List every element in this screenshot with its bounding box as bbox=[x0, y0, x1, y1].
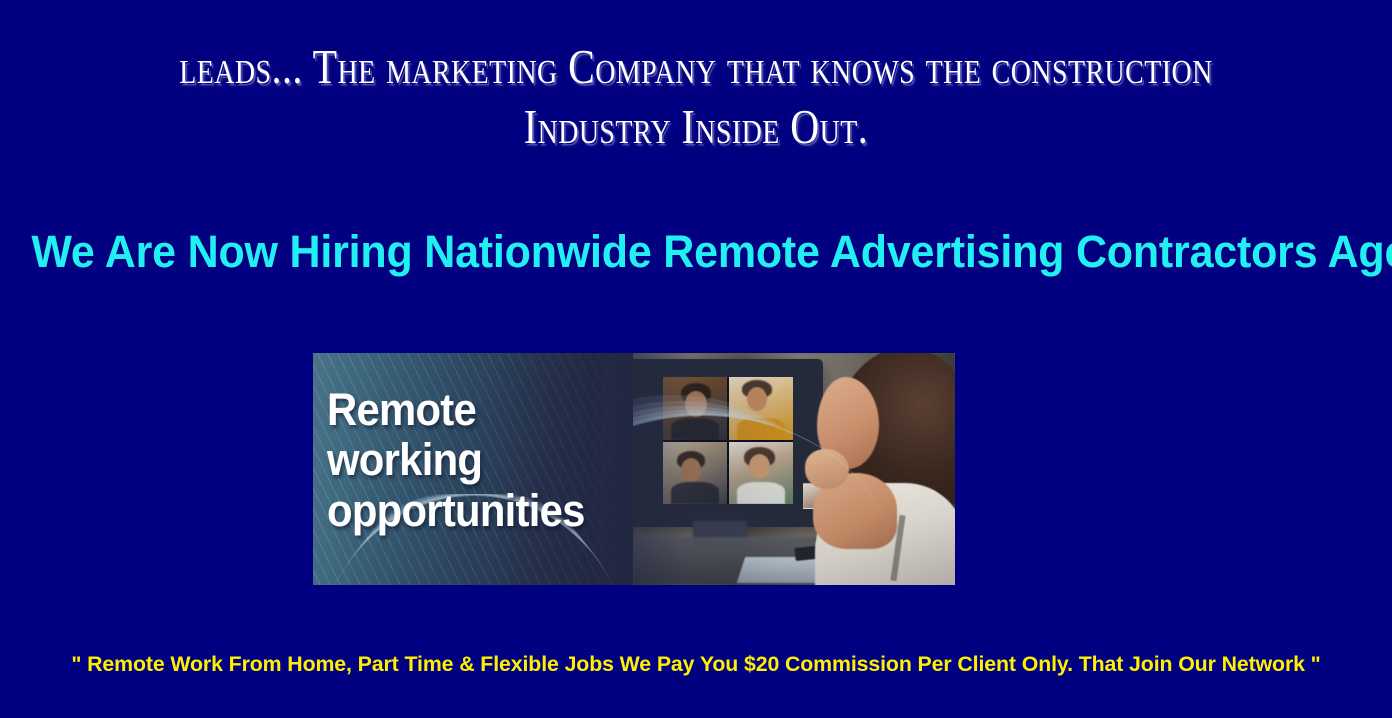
photo-tint-overlay bbox=[633, 353, 955, 585]
video-call-photo bbox=[633, 353, 955, 585]
page-title-line-1: leads... The marketing Company that know… bbox=[49, 44, 1344, 93]
page-root: leads... The marketing Company that know… bbox=[0, 0, 1392, 718]
page-title: leads... The marketing Company that know… bbox=[0, 44, 1392, 148]
page-title-line-2: Industry Inside Out. bbox=[49, 104, 1344, 153]
commission-statement: " Remote Work From Home, Part Time & Fle… bbox=[7, 652, 1385, 677]
banner-headline-line-2: opportunities bbox=[327, 486, 606, 536]
remote-working-banner[interactable]: Remote working opportunities bbox=[313, 353, 955, 585]
banner-headline-line-1: Remote working bbox=[327, 385, 606, 486]
banner-headline: Remote working opportunities bbox=[327, 385, 606, 536]
banner-left-panel: Remote working opportunities bbox=[313, 353, 635, 585]
hiring-subheadline: We Are Now Hiring Nationwide Remote Adve… bbox=[31, 226, 1360, 278]
